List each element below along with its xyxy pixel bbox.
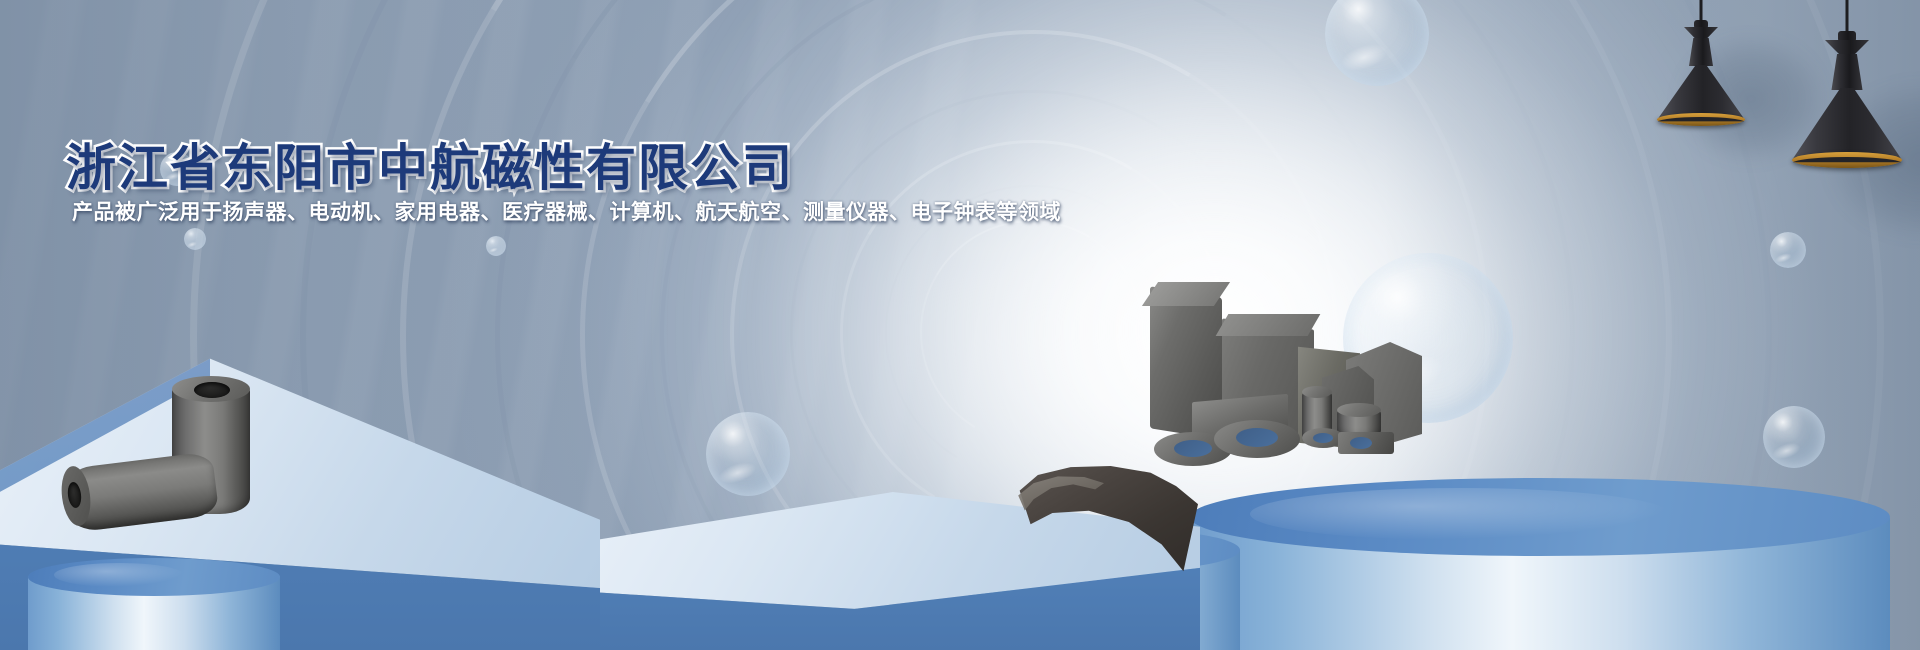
lamp-neck [1825, 40, 1869, 55]
soap-bubble [486, 236, 506, 256]
ferrite-magnet-assortment [1140, 280, 1430, 530]
soap-bubble [1770, 232, 1806, 268]
lamp-neck-taper [1832, 54, 1863, 90]
magnet-disc-thick-top [1337, 403, 1381, 417]
magnet-ring-large-hole [1174, 440, 1212, 457]
lamp-cord [1700, 0, 1703, 22]
lamp-cone [1792, 88, 1902, 160]
page-subtitle: 产品被广泛用于扬声器、电动机、家用电器、医疗器械、计算机、航天航空、测量仪器、电… [72, 196, 1061, 226]
hero-banner: 浙江省东阳市中航磁性有限公司 产品被广泛用于扬声器、电动机、家用电器、医疗器械、… [0, 0, 1920, 650]
pedestal-top-highlight [54, 563, 184, 587]
magnet-cylinder-small-top [1302, 386, 1332, 398]
cylindrical-ring-magnets [60, 370, 290, 560]
soap-bubble [706, 412, 790, 496]
magnet-plate-mid-top [1216, 314, 1321, 336]
page-title: 浙江省东阳市中航磁性有限公司 [66, 128, 794, 200]
lamp-neck [1684, 27, 1718, 39]
soap-bubble [184, 228, 206, 250]
magnet-ring-medium-hole [1236, 428, 1278, 447]
cylindrical-pedestal [28, 558, 280, 650]
pendant-lamp-small [1656, 0, 1746, 136]
lamp-cone [1657, 65, 1745, 120]
lamp-neck-taper [1689, 38, 1713, 66]
magnet-tab-hole [1350, 437, 1372, 449]
soap-bubble [1763, 406, 1825, 468]
magnet-bore-hole [194, 382, 230, 398]
magnet-ring-small-hole [1313, 433, 1333, 443]
pendant-lamp-large [1791, 0, 1903, 182]
lamp-cord [1846, 0, 1849, 34]
